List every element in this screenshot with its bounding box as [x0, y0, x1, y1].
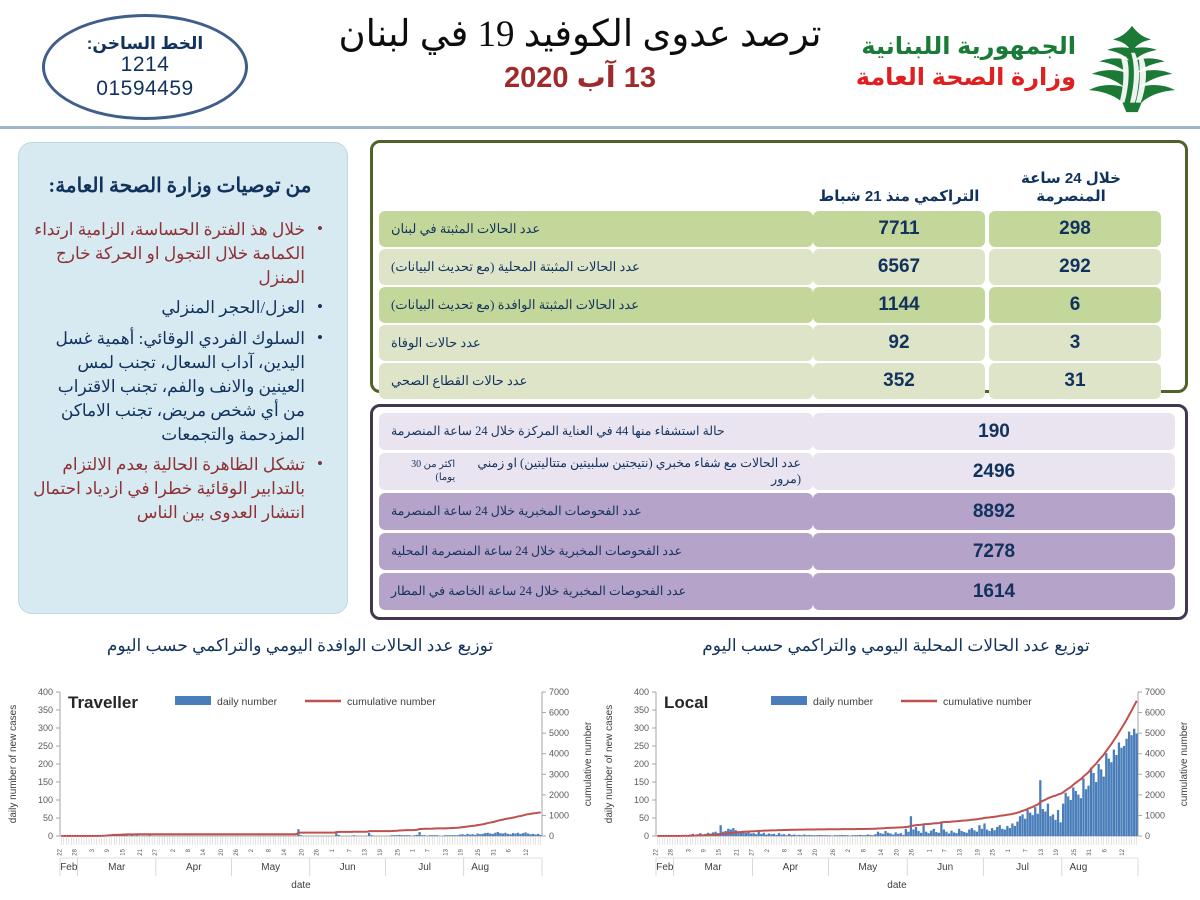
svg-text:19: 19: [975, 848, 981, 855]
svg-text:13: 13: [443, 848, 449, 855]
traveller-chart-caption: توزيع عدد الحالات الوافدة اليومي والتراك…: [40, 636, 560, 656]
row-value: 1614: [813, 573, 1175, 610]
svg-text:31: 31: [1087, 848, 1093, 855]
svg-text:2: 2: [846, 848, 852, 852]
svg-text:Apr: Apr: [186, 862, 202, 873]
svg-text:5000: 5000: [1145, 728, 1165, 738]
svg-text:26: 26: [909, 848, 915, 855]
svg-text:12: 12: [1120, 848, 1126, 855]
svg-text:7: 7: [426, 848, 432, 852]
svg-text:300: 300: [38, 723, 53, 733]
svg-text:14: 14: [201, 848, 207, 855]
recommendations-title: من توصيات وزارة الصحة العامة:: [33, 173, 327, 198]
svg-text:1: 1: [927, 848, 933, 852]
svg-text:daily number of new cases: daily number of new cases: [604, 705, 615, 823]
svg-text:Feb: Feb: [60, 862, 78, 873]
svg-text:Feb: Feb: [656, 862, 674, 873]
svg-text:7: 7: [347, 848, 353, 852]
svg-text:Mar: Mar: [108, 862, 126, 873]
svg-text:31: 31: [491, 848, 497, 855]
svg-text:3: 3: [90, 848, 96, 852]
republic-label: الجمهورية اللبنانية: [856, 32, 1076, 63]
svg-text:7000: 7000: [1145, 687, 1165, 697]
local-chart: 0501001502002503003504000100020003000400…: [600, 678, 1194, 893]
svg-text:6: 6: [506, 848, 512, 852]
table-row: عدد الحالات مع شفاء مخبري (نتيجتين سلبيت…: [379, 453, 1179, 490]
svg-text:14: 14: [798, 848, 804, 855]
table-row: عدد الفحوصات المخبرية خلال 24 ساعة المنص…: [379, 533, 1179, 570]
svg-text:1: 1: [1006, 848, 1012, 852]
svg-text:date: date: [887, 880, 907, 891]
svg-text:26: 26: [831, 848, 837, 855]
table-header-row: التراكمي منذ 21 شباط خلال 24 ساعة المنصر…: [379, 149, 1179, 211]
svg-text:1000: 1000: [549, 810, 569, 820]
svg-text:50: 50: [639, 813, 649, 823]
svg-text:0: 0: [644, 831, 649, 841]
svg-text:350: 350: [38, 705, 53, 715]
svg-text:4000: 4000: [1145, 749, 1165, 759]
svg-text:1: 1: [330, 848, 336, 852]
svg-text:13: 13: [1039, 848, 1045, 855]
row-cumulative-value: 352: [813, 363, 985, 399]
ministry-logo-text: الجمهورية اللبنانية وزارة الصحة العامة: [856, 32, 1076, 93]
table-row: عدد حالات القطاع الصحي 352 31: [379, 363, 1179, 399]
svg-text:2: 2: [171, 848, 177, 852]
svg-text:3000: 3000: [549, 769, 569, 779]
svg-text:2000: 2000: [1145, 790, 1165, 800]
svg-text:Local: Local: [664, 693, 708, 712]
svg-text:250: 250: [634, 741, 649, 751]
svg-text:22: 22: [653, 848, 659, 855]
svg-text:13: 13: [363, 848, 369, 855]
svg-text:Traveller: Traveller: [68, 693, 138, 712]
row-cumulative-value: 6567: [813, 249, 985, 285]
column-header-cumulative: التراكمي منذ 21 شباط: [813, 188, 985, 211]
svg-text:19: 19: [1054, 848, 1060, 855]
svg-text:12: 12: [524, 848, 530, 855]
svg-text:400: 400: [38, 687, 53, 697]
row-label: عدد الفحوصات المخبرية خلال 24 ساعة المنص…: [379, 533, 813, 570]
svg-text:1000: 1000: [1145, 810, 1165, 820]
row-value: 8892: [813, 493, 1175, 530]
row-label-sub: اكثر من 30 يوما): [391, 459, 455, 484]
svg-text:date: date: [291, 880, 311, 891]
svg-text:20: 20: [813, 848, 819, 855]
ministry-logo: الجمهورية اللبنانية وزارة الصحة العامة: [868, 20, 1186, 120]
svg-text:26: 26: [234, 848, 240, 855]
svg-text:3: 3: [686, 848, 692, 852]
hotline-number-2: 01594459: [96, 77, 193, 101]
svg-text:Aug: Aug: [1069, 862, 1087, 873]
list-item: السلوك الفردي الوقائي: أهمية غسل اليدين،…: [33, 327, 305, 448]
svg-text:8: 8: [186, 848, 192, 852]
svg-text:0: 0: [1145, 831, 1150, 841]
row-label: حالة استشفاء منها 44 في العناية المركزة …: [379, 413, 813, 450]
svg-text:2: 2: [765, 848, 771, 852]
svg-text:2: 2: [249, 848, 255, 852]
svg-text:21: 21: [138, 848, 144, 855]
row-label: عدد حالات الوفاة: [379, 325, 813, 361]
row-value: 7278: [813, 533, 1175, 570]
svg-text:100: 100: [38, 795, 53, 805]
svg-text:20: 20: [219, 848, 225, 855]
svg-text:Jun: Jun: [937, 862, 953, 873]
svg-text:25: 25: [1072, 848, 1078, 855]
table-row: حالة استشفاء منها 44 في العناية المركزة …: [379, 413, 1179, 450]
row-cumulative-value: 1144: [813, 287, 985, 323]
row-label: عدد الحالات المثبتة في لبنان: [379, 211, 813, 247]
svg-text:May: May: [858, 862, 877, 873]
svg-text:2000: 2000: [549, 790, 569, 800]
traveller-chart: 0501001502002503003504000100020003000400…: [4, 678, 598, 893]
svg-text:cumulative number: cumulative number: [347, 696, 436, 708]
svg-text:Jun: Jun: [340, 862, 356, 873]
svg-text:Jul: Jul: [1016, 862, 1029, 873]
svg-text:25: 25: [476, 848, 482, 855]
svg-text:cumulative number: cumulative number: [1179, 721, 1190, 806]
table-row: عدد الفحوصات المخبرية خلال 24 ساعة الخاص…: [379, 573, 1179, 610]
svg-text:Jul: Jul: [418, 862, 431, 873]
list-item: العزل/الحجر المنزلي: [33, 296, 305, 320]
row-value: 2496: [813, 453, 1175, 490]
row-label-main: عدد الحالات مع شفاء مخبري (نتيجتين سلبيت…: [455, 456, 801, 487]
svg-text:7: 7: [1024, 848, 1030, 852]
list-item: خلال هذ الفترة الحساسة، الزامية ارتداء ا…: [33, 218, 305, 290]
svg-text:100: 100: [634, 795, 649, 805]
svg-text:250: 250: [38, 741, 53, 751]
confirmed-cases-table: التراكمي منذ 21 شباط خلال 24 ساعة المنصر…: [370, 140, 1188, 393]
list-item: تشكل الظاهرة الحالية بعدم الالتزام بالتد…: [33, 453, 305, 525]
recovery-and-tests-table: حالة استشفاء منها 44 في العناية المركزة …: [370, 404, 1188, 620]
table-row: عدد الفحوصات المخبرية خلال 24 ساعة المنص…: [379, 493, 1179, 530]
table-row: عدد الحالات المثبتة في لبنان 7711 298: [379, 211, 1179, 247]
svg-text:27: 27: [153, 848, 159, 855]
cedar-tree-icon: [1084, 24, 1180, 116]
recommendations-list: خلال هذ الفترة الحساسة، الزامية ارتداء ا…: [33, 218, 327, 526]
svg-text:daily number: daily number: [813, 696, 874, 708]
svg-text:6000: 6000: [1145, 708, 1165, 718]
row-label: عدد الحالات مع شفاء مخبري (نتيجتين سلبيت…: [379, 453, 813, 490]
svg-text:8: 8: [783, 848, 789, 852]
local-chart-caption: توزيع عدد الحالات المحلية اليومي والتراك…: [636, 636, 1156, 656]
svg-text:8: 8: [267, 848, 273, 852]
svg-text:21: 21: [734, 848, 740, 855]
svg-text:200: 200: [634, 759, 649, 769]
svg-text:150: 150: [634, 777, 649, 787]
svg-text:cumulative number: cumulative number: [583, 721, 594, 806]
svg-text:9: 9: [105, 848, 111, 852]
svg-text:350: 350: [634, 705, 649, 715]
header-divider: [0, 126, 1200, 129]
recommendations-panel: من توصيات وزارة الصحة العامة: خلال هذ ال…: [18, 142, 348, 614]
svg-text:25: 25: [395, 848, 401, 855]
row-last24-value: 298: [989, 211, 1161, 247]
row-label: عدد الفحوصات المخبرية خلال 24 ساعة الخاص…: [379, 573, 813, 610]
svg-text:5000: 5000: [549, 728, 569, 738]
hotline-badge: الخط الساخن: 1214 01594459: [42, 14, 248, 120]
svg-text:9: 9: [701, 848, 707, 852]
svg-text:daily number: daily number: [217, 696, 278, 708]
table-row: عدد الحالات المثبتة المحلية (مع تحديث ال…: [379, 249, 1179, 285]
svg-text:27: 27: [750, 848, 756, 855]
svg-text:8: 8: [861, 848, 867, 852]
svg-text:26: 26: [315, 848, 321, 855]
page-title: ترصد عدوى الكوفيد 19 في لبنان: [300, 12, 860, 58]
svg-text:25: 25: [991, 848, 997, 855]
svg-text:19: 19: [378, 848, 384, 855]
svg-text:6: 6: [1102, 848, 1108, 852]
svg-text:400: 400: [634, 687, 649, 697]
svg-text:300: 300: [634, 723, 649, 733]
row-last24-value: 6: [989, 287, 1161, 323]
svg-text:7000: 7000: [549, 687, 569, 697]
svg-text:0: 0: [549, 831, 554, 841]
svg-text:20: 20: [300, 848, 306, 855]
report-date: 13 آب 2020: [300, 60, 860, 95]
svg-text:6000: 6000: [549, 708, 569, 718]
svg-text:15: 15: [717, 848, 723, 855]
svg-text:20: 20: [894, 848, 900, 855]
column-header-last24: خلال 24 ساعة المنصرمة: [985, 170, 1157, 212]
row-label: عدد الفحوصات المخبرية خلال 24 ساعة المنص…: [379, 493, 813, 530]
hotline-label: الخط الساخن:: [87, 34, 204, 53]
svg-text:14: 14: [879, 848, 885, 855]
svg-text:Mar: Mar: [704, 862, 722, 873]
hotline-number-1: 1214: [121, 53, 170, 77]
svg-text:4000: 4000: [549, 749, 569, 759]
svg-text:13: 13: [958, 848, 964, 855]
svg-text:May: May: [261, 862, 280, 873]
page-title-block: ترصد عدوى الكوفيد 19 في لبنان 13 آب 2020: [300, 12, 860, 95]
ministry-label: وزارة الصحة العامة: [856, 63, 1076, 94]
svg-text:150: 150: [38, 777, 53, 787]
svg-text:22: 22: [57, 848, 63, 855]
svg-text:Apr: Apr: [783, 862, 799, 873]
row-cumulative-value: 7711: [813, 211, 985, 247]
row-label: عدد الحالات المثبتة الوافدة (مع تحديث ال…: [379, 287, 813, 323]
row-cumulative-value: 92: [813, 325, 985, 361]
row-last24-value: 292: [989, 249, 1161, 285]
svg-text:cumulative number: cumulative number: [943, 696, 1032, 708]
svg-text:3000: 3000: [1145, 769, 1165, 779]
table-row: عدد حالات الوفاة 92 3: [379, 325, 1179, 361]
svg-text:28: 28: [72, 848, 78, 855]
row-last24-value: 3: [989, 325, 1161, 361]
svg-text:200: 200: [38, 759, 53, 769]
svg-text:28: 28: [668, 848, 674, 855]
svg-text:19: 19: [459, 848, 465, 855]
svg-text:15: 15: [120, 848, 126, 855]
row-value: 190: [813, 413, 1175, 450]
svg-text:14: 14: [282, 848, 288, 855]
svg-text:7: 7: [942, 848, 948, 852]
svg-text:0: 0: [48, 831, 53, 841]
row-label: عدد حالات القطاع الصحي: [379, 363, 813, 399]
svg-text:1: 1: [411, 848, 417, 852]
svg-text:Aug: Aug: [471, 862, 489, 873]
svg-text:daily number of new cases: daily number of new cases: [8, 705, 19, 823]
table-row: عدد الحالات المثبتة الوافدة (مع تحديث ال…: [379, 287, 1179, 323]
row-label: عدد الحالات المثبتة المحلية (مع تحديث ال…: [379, 249, 813, 285]
svg-text:50: 50: [43, 813, 53, 823]
page-header: الخط الساخن: 1214 01594459 ترصد عدوى الك…: [0, 0, 1200, 126]
row-last24-value: 31: [989, 363, 1161, 399]
